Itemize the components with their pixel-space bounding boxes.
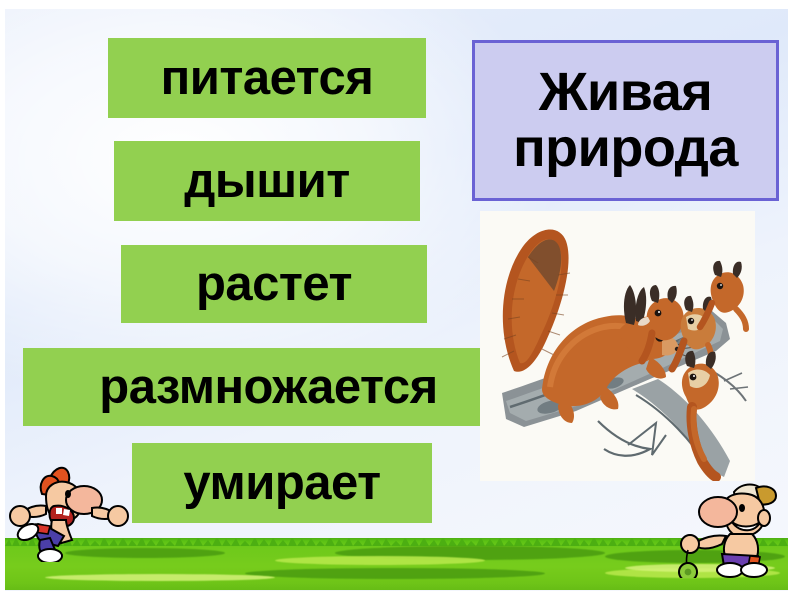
word-box-razmnozhaetsya[interactable]: размножается (23, 348, 490, 426)
running-boy-cartoon (6, 466, 136, 562)
boy-with-yoyo-icon (672, 478, 792, 578)
word-label: растет (196, 260, 352, 309)
word-label: умирает (183, 459, 380, 508)
title-box-living-nature[interactable]: Живая природа (472, 40, 779, 201)
word-box-dyshit[interactable]: дышит (114, 141, 420, 221)
title-line-2: природа (513, 121, 738, 177)
boy-with-yoyo-cartoon (672, 478, 792, 578)
word-box-pitaetsya[interactable]: питается (108, 38, 426, 118)
grass-patch (245, 568, 545, 579)
word-label: дышит (184, 157, 349, 206)
slide-canvas: питается дышит растет размножается умира… (0, 0, 800, 600)
title-line-1: Живая (539, 65, 713, 121)
word-label: питается (161, 54, 374, 103)
word-box-rastet[interactable]: растет (121, 245, 427, 323)
running-boy-icon (6, 466, 136, 562)
grass-patch (45, 574, 275, 581)
word-label: размножается (99, 363, 437, 412)
squirrel-illustration-icon (480, 211, 755, 481)
grass-patch (275, 556, 485, 565)
word-box-umiraet[interactable]: умирает (132, 443, 432, 523)
squirrel-family-illustration (480, 211, 755, 481)
